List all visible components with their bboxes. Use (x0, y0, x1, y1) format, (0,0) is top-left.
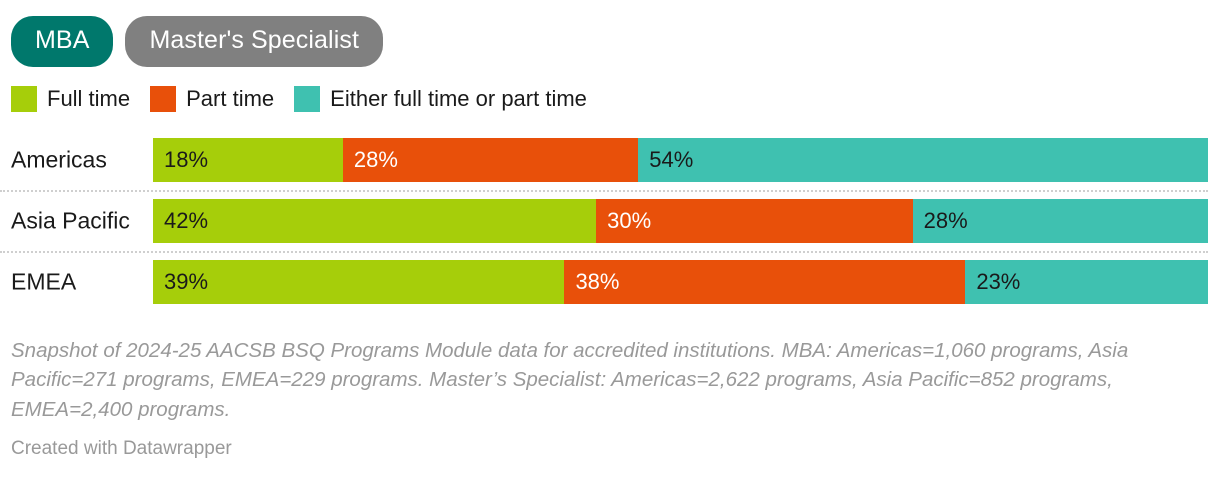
toggle-masters-specialist[interactable]: Master's Specialist (125, 16, 383, 67)
chart-legend: Full time Part time Either full time or … (0, 67, 1220, 112)
bar-segment[interactable]: 38% (564, 260, 965, 304)
bar-segment[interactable]: 54% (638, 138, 1208, 182)
row-divider (0, 251, 1208, 255)
bar-segment[interactable]: 42% (153, 199, 596, 243)
toggle-mba[interactable]: MBA (11, 16, 113, 67)
bar-segment-value: 42% (153, 210, 208, 232)
legend-item-either[interactable]: Either full time or part time (294, 86, 587, 112)
legend-label: Either full time or part time (330, 88, 587, 110)
legend-item-full-time[interactable]: Full time (11, 86, 130, 112)
bar-segment-value: 38% (564, 271, 619, 293)
bar-segment-value: 39% (153, 271, 208, 293)
legend-swatch-icon (11, 86, 37, 112)
bar-segment[interactable]: 28% (343, 138, 638, 182)
bar-segment-value: 18% (153, 149, 208, 171)
bar-segment[interactable]: 23% (965, 260, 1208, 304)
chart-credit: Created with Datawrapper (11, 438, 1220, 460)
legend-swatch-icon (150, 86, 176, 112)
chart-row: Americas18%28%54% (0, 129, 1220, 190)
bar-segment[interactable]: 18% (153, 138, 343, 182)
bar-segment-value: 23% (965, 271, 1020, 293)
bar-segment-value: 54% (638, 149, 693, 171)
row-label: Asia Pacific (11, 207, 130, 234)
bar-segment-value: 28% (343, 149, 398, 171)
bar-track: 39%38%23% (153, 260, 1208, 304)
row-divider (0, 190, 1208, 194)
chart-row: EMEA39%38%23% (0, 251, 1220, 312)
legend-item-part-time[interactable]: Part time (150, 86, 274, 112)
chart-row: Asia Pacific42%30%28% (0, 190, 1220, 251)
bar-track: 42%30%28% (153, 199, 1208, 243)
legend-swatch-icon (294, 86, 320, 112)
chart-notes: Snapshot of 2024-25 AACSB BSQ Programs M… (11, 336, 1136, 424)
bar-segment[interactable]: 30% (596, 199, 913, 243)
bar-segment[interactable]: 28% (913, 199, 1208, 243)
row-label: Americas (11, 146, 107, 173)
bar-segment[interactable]: 39% (153, 260, 564, 304)
row-label: EMEA (11, 268, 76, 295)
bar-track: 18%28%54% (153, 138, 1208, 182)
bar-segment-value: 28% (913, 210, 968, 232)
legend-label: Part time (186, 88, 274, 110)
dataset-toggle-group: MBA Master's Specialist (0, 0, 1220, 67)
bar-segment-value: 30% (596, 210, 651, 232)
stacked-bar-chart: Americas18%28%54%Asia Pacific42%30%28%EM… (0, 129, 1220, 312)
legend-label: Full time (47, 88, 130, 110)
